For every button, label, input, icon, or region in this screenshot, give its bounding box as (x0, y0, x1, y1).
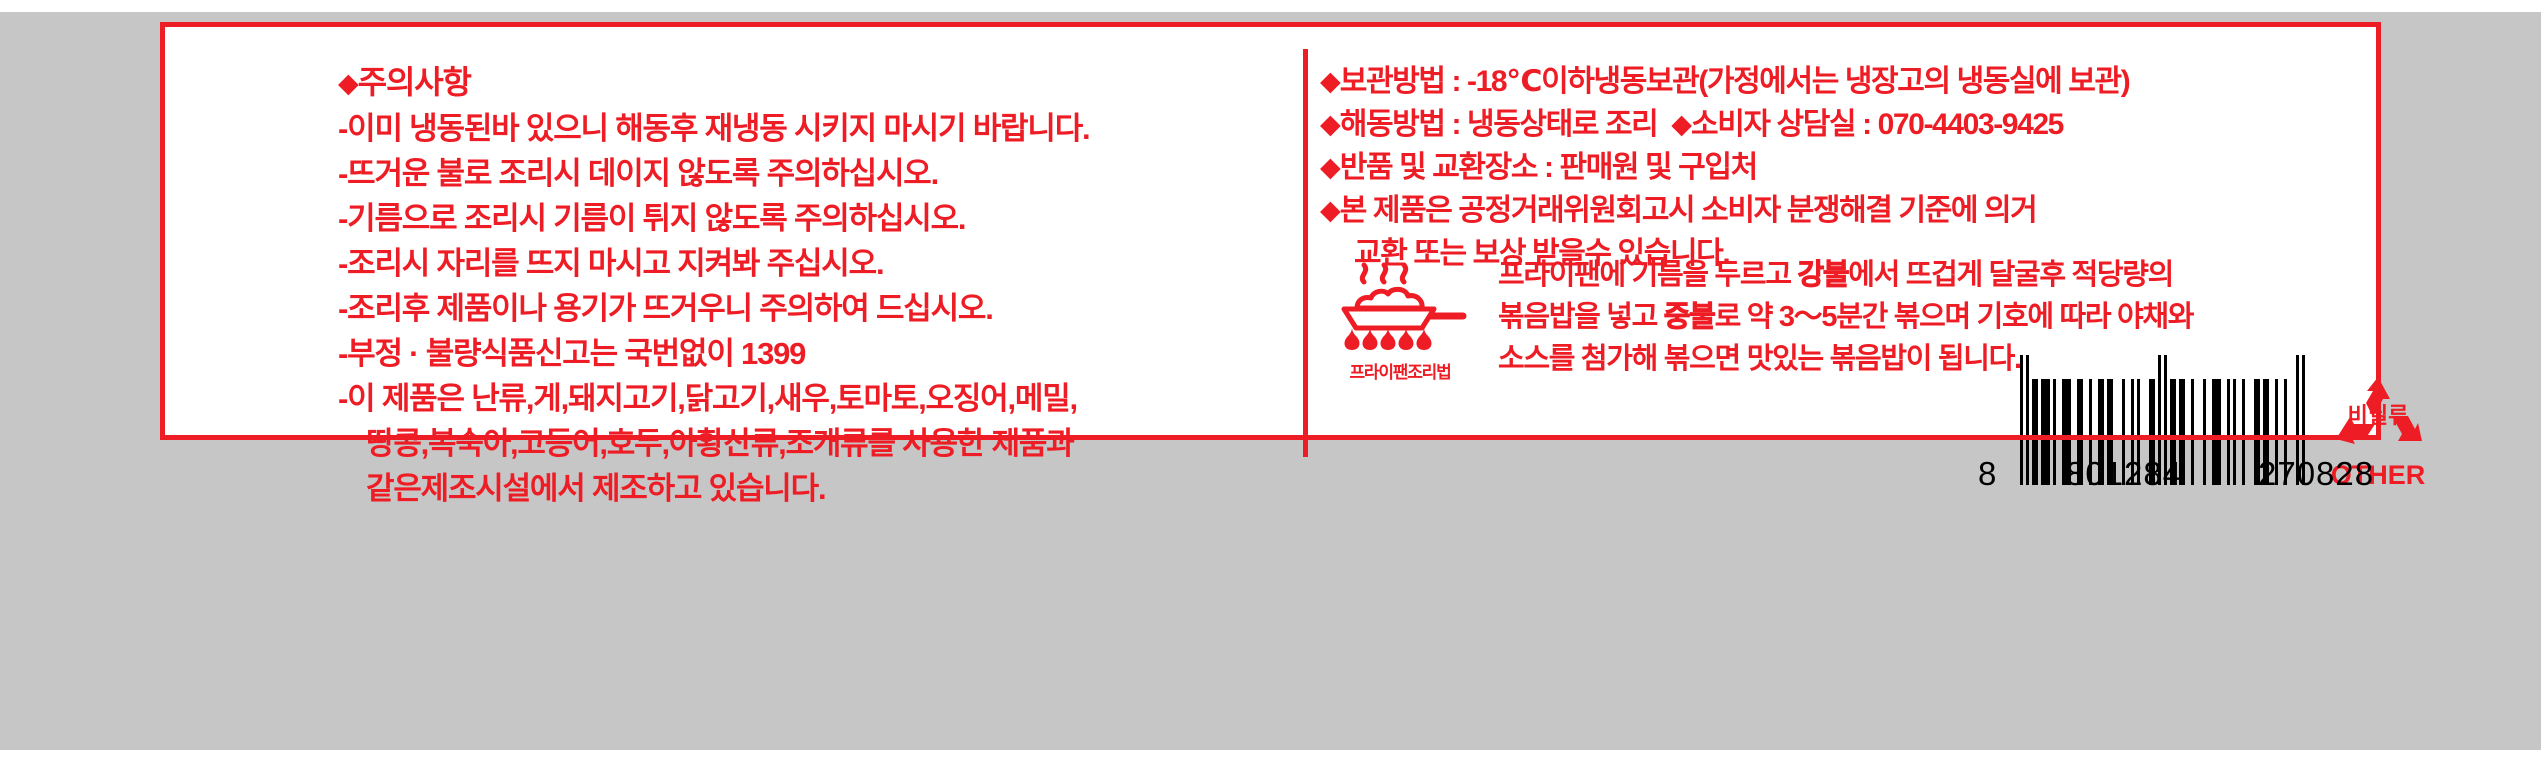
diamond-bullet-icon: ◆ (1320, 66, 1340, 96)
recycle-material-label: 비닐류 (2348, 403, 2409, 428)
exchange-location-text: 반품 및 교환장소 : 판매원 및 구입처 (1340, 151, 1757, 184)
diamond-bullet-icon: ◆ (1320, 195, 1340, 225)
exchange-location-row: ◆반품 및 교환장소 : 판매원 및 구입처 (1320, 146, 2520, 189)
barcode-and-recycle-block: 8 801284 270828 비닐류 OTHER (2020, 355, 2437, 493)
caution-item: -부정 · 불량식품신고는 국번없이 1399 (338, 331, 1298, 376)
recycle-arrows-icon: 비닐류 (2326, 373, 2430, 459)
frying-pan-icon-group: 프라이팬조리법 (1320, 250, 1480, 383)
caution-item: -뜨거운 불로 조리시 데이지 않도록 주의하십시오. (338, 151, 1298, 196)
cooking-line-1: 프라이팬에 기름을 두르고 강불에서 뜨겁게 달굴후 적당량의 (1498, 254, 2520, 296)
cooking-strong-heat: 강불 (1797, 259, 1848, 291)
diamond-bullet-icon: ◆ (1320, 152, 1340, 182)
barcode-right-group: 270828 (2258, 455, 2374, 493)
cooking-line-2-a: 볶음밥을 넣고 (1498, 301, 1664, 333)
diamond-bullet-icon: ◆ (1320, 109, 1340, 139)
canvas-bottom-strip (0, 750, 2541, 762)
consumer-service-text: 소비자 상담실 : 070-4403-9425 (1691, 108, 2063, 141)
thaw-method-text: 해동방법 : 냉동상태로 조리 (1340, 108, 1658, 141)
product-label-card: ◆주의사항 -이미 냉동된바 있으니 해동후 재냉동 시키지 마시기 바랍니다.… (160, 22, 2381, 440)
cooking-line-1-c: 에서 뜨겁게 달굴후 적당량의 (1848, 259, 2173, 291)
frying-pan-icon-caption: 프라이팬조리법 (1320, 358, 1480, 383)
cooking-line-1-a: 프라이팬에 기름을 두르고 (1498, 259, 1797, 291)
barcode: 8 801284 270828 (2020, 355, 2305, 493)
thaw-and-consumer-row: ◆해동방법 : 냉동상태로 조리 ◆소비자 상담실 : 070-4403-942… (1320, 103, 2520, 146)
caution-item: -조리후 제품이나 용기가 뜨거우니 주의하여 드십시오. (338, 286, 1298, 331)
cooking-line-2-c: 로 약 3～5분간 볶으며 기호에 따라 야채와 (1715, 301, 2194, 333)
storage-method-row: ◆보관방법 : -18℃이하냉동보관(가정에서는 냉장고의 냉동실에 보관) (1320, 60, 2520, 103)
allergen-line: 같은제조시설에서 제조하고 있습니다. (338, 466, 1298, 511)
diamond-bullet-icon: ◆ (1671, 109, 1691, 139)
storage-and-cooking-column: ◆보관방법 : -18℃이하냉동보관(가정에서는 냉장고의 냉동실에 보관) ◆… (1320, 60, 2520, 450)
diamond-bullet-icon: ◆ (338, 68, 358, 98)
cautions-heading-label: 주의사항 (358, 64, 471, 100)
cooking-medium-heat: 중불 (1664, 301, 1715, 333)
barcode-digits: 8 801284 270828 (2020, 459, 2305, 493)
caution-item: -이미 냉동된바 있으니 해동후 재냉동 시키지 마시기 바랍니다. (338, 106, 1298, 151)
storage-method-text: 보관방법 : -18℃이하냉동보관(가정에서는 냉장고의 냉동실에 보관) (1340, 65, 2130, 98)
fairtrade-row: ◆본 제품은 공정거래위원회고시 소비자 분쟁해결 기준에 의거 (1320, 189, 2520, 232)
allergen-line: 땅콩,복숙아,고등어,호두,아황산류,조개류를 사용한 제품과 (338, 421, 1298, 466)
fairtrade-text-line1: 본 제품은 공정거래위원회고시 소비자 분쟁해결 기준에 의거 (1340, 194, 2037, 227)
column-divider (1303, 49, 1308, 457)
barcode-lead-digit: 8 (1978, 455, 1997, 493)
cooking-line-2: 볶음밥을 넣고 중불로 약 3～5분간 볶으며 기호에 따라 야채와 (1498, 296, 2520, 338)
cautions-heading: ◆주의사항 (338, 60, 1298, 106)
cautions-column: ◆주의사항 -이미 냉동된바 있으니 해동후 재냉동 시키지 마시기 바랍니다.… (338, 60, 1298, 450)
allergen-line: -이 제품은 난류,게,돼지고기,닭고기,새우,토마토,오징어,메밀, (338, 376, 1298, 421)
frying-pan-icon (1330, 256, 1470, 352)
caution-item: -기름으로 조리시 기름이 튀지 않도록 주의하십시오. (338, 196, 1298, 241)
caution-item: -조리시 자리를 뜨지 마시고 지켜봐 주십시오. (338, 241, 1298, 286)
canvas-top-strip (0, 0, 2541, 12)
barcode-left-group: 801284 (2066, 455, 2182, 493)
